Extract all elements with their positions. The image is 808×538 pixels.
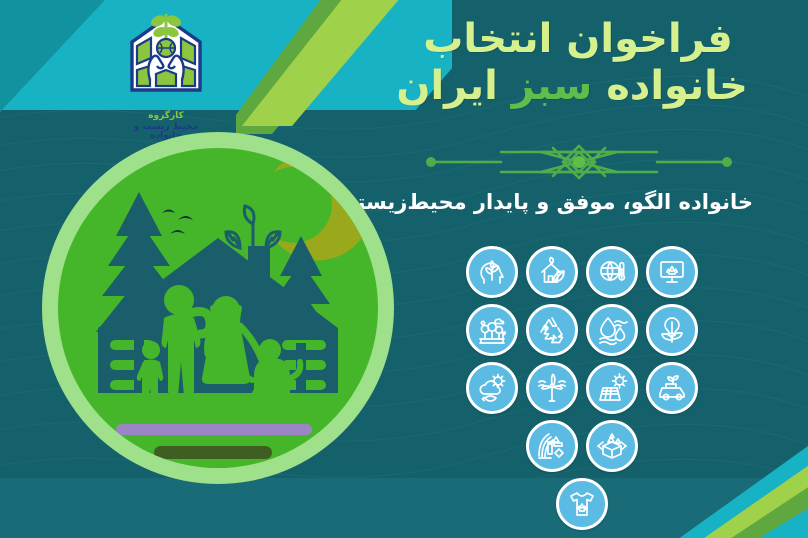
eco-car-icon[interactable] [646, 362, 698, 414]
family-nature-emblem [38, 128, 398, 488]
icon-row-2 [462, 304, 702, 356]
waste-sorting-icon[interactable] [526, 420, 578, 472]
park-trees-icon[interactable] [466, 304, 518, 356]
climate-cloud-icon[interactable] [466, 362, 518, 414]
wind-turbine-icon[interactable] [526, 362, 578, 414]
eco-house-icon[interactable] [526, 246, 578, 298]
logo-line1: کارگروه [120, 112, 212, 121]
package-trees-icon[interactable] [586, 420, 638, 472]
headline-line-2: خانواده سبز ایران [408, 63, 748, 110]
head-plant-icon[interactable] [466, 246, 518, 298]
headline-line-2-before: خانواده [592, 63, 748, 109]
poster-root: کارگروه محیط زیست و خانواده فراخوان انتخ… [0, 0, 808, 538]
tshirt-recycle-icon[interactable] [556, 478, 608, 530]
poster-headline: فراخوان انتخاب خانواده سبز ایران [408, 16, 748, 110]
water-drop-icon[interactable] [586, 304, 638, 356]
organization-logo: کارگروه محیط زیست و خانواده [120, 8, 212, 112]
monitor-recycle-icon[interactable] [646, 246, 698, 298]
headline-accent-word: سبز [512, 63, 593, 109]
headline-line-1: فراخوان انتخاب [408, 16, 748, 63]
eco-topic-icons [462, 246, 702, 524]
eco-bulb-plant-icon[interactable] [646, 304, 698, 356]
recycle-icon[interactable] [526, 304, 578, 356]
globe-thermometer-icon[interactable] [586, 246, 638, 298]
logo-mark [120, 8, 212, 112]
icon-row-1 [462, 246, 702, 298]
icon-row-5 [462, 478, 702, 530]
poster-subtitle: خانواده الگو، موفق و پایدار محیط‌زیستی [405, 190, 753, 214]
icon-row-3 [462, 362, 702, 414]
solar-panel-icon[interactable] [586, 362, 638, 414]
headline-line-2-after: ایران [396, 63, 511, 109]
icon-row-4 [462, 420, 702, 472]
ornamental-divider [405, 144, 753, 180]
